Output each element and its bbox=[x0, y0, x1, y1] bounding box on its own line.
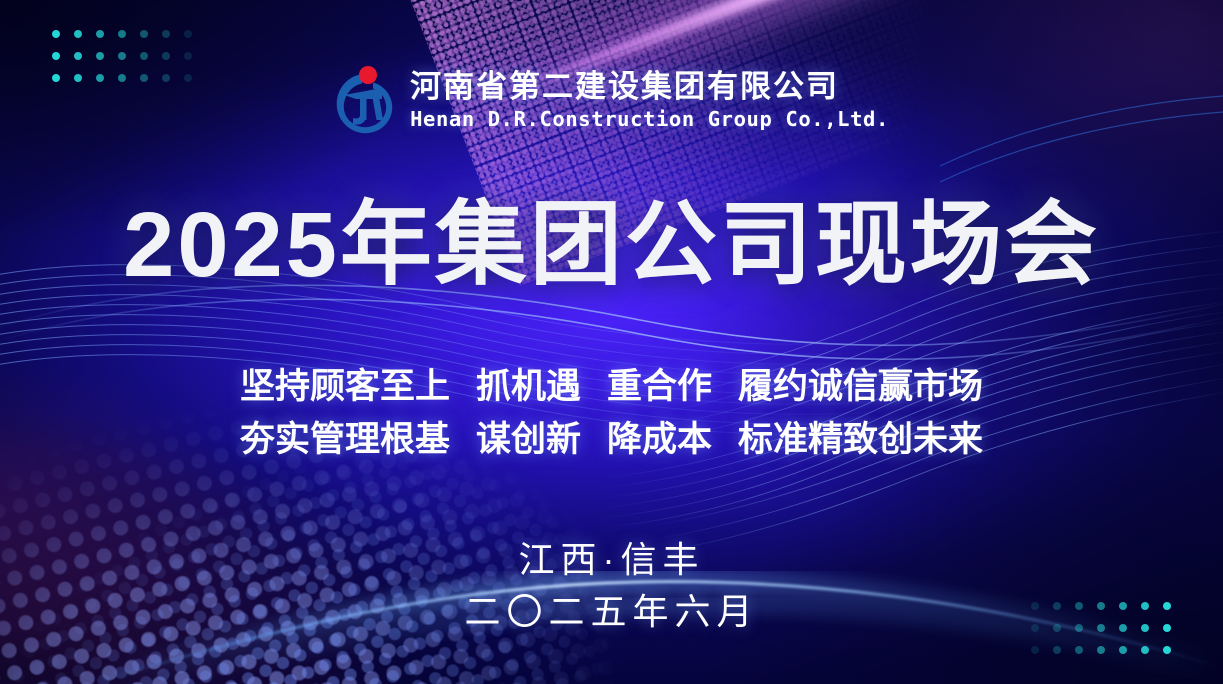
event-location: 江西·信丰 bbox=[0, 534, 1223, 586]
henan-dr-construction-logo-icon bbox=[334, 62, 396, 140]
slogan-segment: 降成本 bbox=[607, 420, 712, 459]
slide-content: 河南省第二建设集团有限公司 Henan D.R.Construction Gro… bbox=[0, 0, 1223, 684]
slogan-line: 夯实管理根基谋创新降成本标准精致创未来 bbox=[0, 413, 1223, 466]
slogan-segment: 履约诚信赢市场 bbox=[738, 367, 983, 406]
presentation-slide: 河南省第二建设集团有限公司 Henan D.R.Construction Gro… bbox=[0, 0, 1223, 684]
company-name-en: Henan D.R.Construction Group Co.,Ltd. bbox=[410, 107, 889, 133]
slogan-block: 坚持顾客至上抓机遇重合作履约诚信赢市场 夯实管理根基谋创新降成本标准精致创未来 bbox=[0, 360, 1223, 466]
slogan-segment: 重合作 bbox=[607, 367, 712, 406]
event-date: 二〇二五年六月 bbox=[0, 586, 1223, 638]
company-logo-text: 河南省第二建设集团有限公司 Henan D.R.Construction Gro… bbox=[410, 69, 889, 133]
slogan-segment: 标准精致创未来 bbox=[738, 420, 983, 459]
slogan-segment: 谋创新 bbox=[476, 420, 581, 459]
page-title: 2025年集团公司现场会 bbox=[0, 196, 1223, 295]
company-name-cn: 河南省第二建设集团有限公司 bbox=[410, 69, 839, 106]
slogan-line: 坚持顾客至上抓机遇重合作履约诚信赢市场 bbox=[0, 360, 1223, 413]
slogan-segment: 坚持顾客至上 bbox=[240, 367, 450, 406]
company-logo-block: 河南省第二建设集团有限公司 Henan D.R.Construction Gro… bbox=[0, 62, 1223, 140]
slogan-segment: 抓机遇 bbox=[476, 367, 581, 406]
slogan-segment: 夯实管理根基 bbox=[240, 420, 450, 459]
footer-block: 江西·信丰 二〇二五年六月 bbox=[0, 534, 1223, 638]
